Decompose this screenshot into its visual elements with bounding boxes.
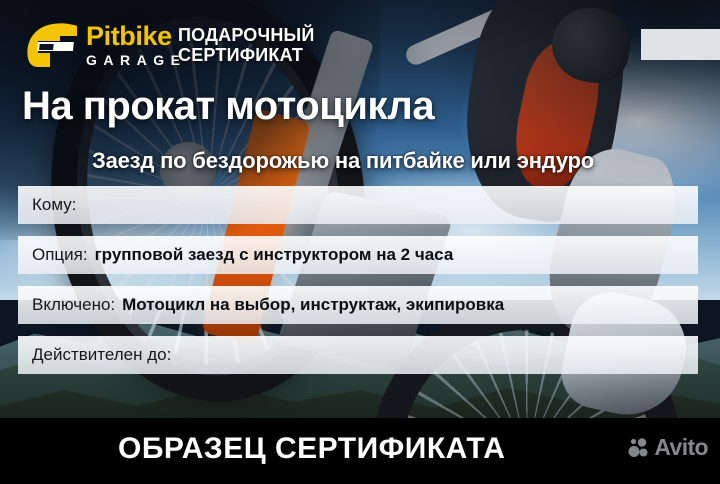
field-label: Включено: <box>32 295 115 315</box>
subheadline: Заезд по бездорожью на питбайке или энду… <box>92 148 594 174</box>
motocross-helmet-icon <box>26 22 78 68</box>
footer-band: ОБРАЗЕЦ СЕРТИФИКАТА Avito <box>0 418 720 484</box>
brand-name-secondary: GARAGE <box>86 53 186 67</box>
field-value: групповой заезд с инструктором на 2 часа <box>95 245 454 265</box>
avito-watermark: Avito <box>628 436 708 459</box>
top-right-blank-rectangle <box>641 29 720 60</box>
field-value: Мотоцикл на выбор, инструктаж, экипировк… <box>122 295 504 315</box>
sample-certificate-text: ОБРАЗЕЦ СЕРТИФИКАТА <box>118 432 505 466</box>
field-label: Кому: <box>32 195 76 215</box>
brand-logo: Pitbike GARAGE <box>26 22 186 68</box>
gift-title-line1: ПОДАРОЧНЫЙ <box>178 25 315 45</box>
avito-dots-icon <box>628 437 650 459</box>
brand-name-primary: Pitbike <box>86 23 186 50</box>
headline: На прокат мотоцикла <box>22 84 434 129</box>
field-row-included: Включено: Мотоцикл на выбор, инструктаж,… <box>18 286 698 324</box>
field-row-option: Опция: групповой заезд с инструктором на… <box>18 236 698 274</box>
field-label: Опция: <box>32 245 88 265</box>
gift-title-line2: СЕРТИФИКАТ <box>178 45 315 65</box>
field-row-recipient: Кому: <box>18 186 698 224</box>
gift-certificate-title: ПОДАРОЧНЫЙ СЕРТИФИКАТ <box>178 25 315 65</box>
field-row-valid-until: Действителен до: <box>18 336 698 374</box>
gift-certificate-image: Pitbike GARAGE ПОДАРОЧНЫЙ СЕРТИФИКАТ На … <box>0 0 720 484</box>
brand-wordmark: Pitbike GARAGE <box>86 23 186 67</box>
avito-wordmark: Avito <box>654 436 708 459</box>
field-label: Действителен до: <box>32 345 171 365</box>
fields-list: Кому: Опция: групповой заезд с инструкто… <box>18 186 698 374</box>
